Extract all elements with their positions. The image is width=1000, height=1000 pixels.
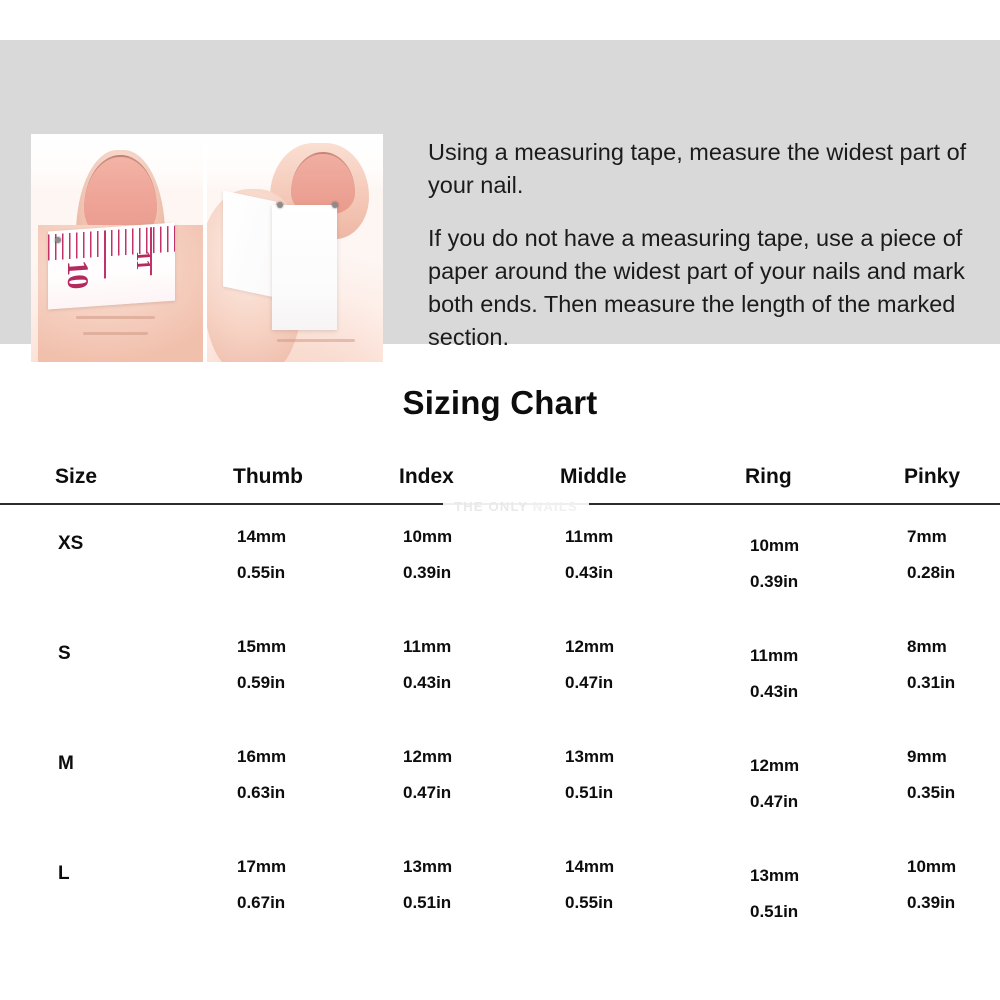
cell-index: 12mm0.47in — [355, 725, 525, 835]
instruction-text: Using a measuring tape, measure the wide… — [428, 136, 980, 354]
table-header: Size Thumb Index Middle Ring Pinky — [0, 465, 1000, 504]
measuring-photo: 10 11 — [31, 134, 383, 362]
column-header-thumb: Thumb — [180, 465, 355, 504]
cell-index: 10mm0.39in — [355, 504, 525, 615]
tape-pin — [55, 237, 61, 243]
cell-ring: 10mm0.39in — [695, 504, 860, 615]
instruction-paragraph-1: Using a measuring tape, measure the wide… — [428, 136, 980, 202]
cell-thumb: 14mm0.55in — [180, 504, 355, 615]
cell-middle: 14mm0.55in — [525, 835, 695, 945]
column-header-ring: Ring — [695, 465, 860, 504]
column-header-size: Size — [0, 465, 180, 504]
column-header-pinky: Pinky — [860, 465, 1000, 504]
sizing-chart-table: Size Thumb Index Middle Ring Pinky XS 14… — [0, 465, 1000, 945]
table-header-row: Size Thumb Index Middle Ring Pinky — [0, 465, 1000, 504]
table-row: M 16mm0.63in 12mm0.47in 13mm0.51in 12mm0… — [0, 725, 1000, 835]
cell-middle: 13mm0.51in — [525, 725, 695, 835]
cell-pinky: 8mm0.31in — [860, 615, 1000, 725]
instruction-paragraph-2: If you do not have a measuring tape, use… — [428, 222, 980, 354]
instruction-banner: 10 11 Using a measuring tape, measure th… — [0, 40, 1000, 344]
cell-ring: 12mm0.47in — [695, 725, 860, 835]
cell-index: 13mm0.51in — [355, 835, 525, 945]
cell-pinky: 10mm0.39in — [860, 835, 1000, 945]
cell-thumb: 16mm0.63in — [180, 725, 355, 835]
cell-pinky: 7mm0.28in — [860, 504, 1000, 615]
column-header-middle: Middle — [525, 465, 695, 504]
cell-thumb: 17mm0.67in — [180, 835, 355, 945]
sizing-chart-table-wrapper: Size Thumb Index Middle Ring Pinky XS 14… — [0, 465, 1000, 945]
paper-strip — [272, 205, 337, 330]
table-row: L 17mm0.67in 13mm0.51in 14mm0.55in 13mm0… — [0, 835, 1000, 945]
cell-ring: 13mm0.51in — [695, 835, 860, 945]
page-title: Sizing Chart — [0, 384, 1000, 422]
table-body: XS 14mm0.55in 10mm0.39in 11mm0.43in 10mm… — [0, 504, 1000, 945]
cell-thumb: 15mm0.59in — [180, 615, 355, 725]
tape-number-11: 11 — [131, 251, 154, 272]
photo-panel-paper-strip — [207, 134, 383, 362]
cell-middle: 11mm0.43in — [525, 504, 695, 615]
column-header-index: Index — [355, 465, 525, 504]
cell-size: L — [0, 835, 180, 945]
cell-pinky: 9mm0.35in — [860, 725, 1000, 835]
cell-size: XS — [0, 504, 180, 615]
skin-crease — [76, 316, 155, 319]
cell-size: M — [0, 725, 180, 835]
tape-ticks — [48, 226, 175, 261]
tape-major-tick — [104, 231, 106, 279]
cell-size: S — [0, 615, 180, 725]
paper-strip-tail — [223, 190, 276, 297]
table-row: XS 14mm0.55in 10mm0.39in 11mm0.43in 10mm… — [0, 504, 1000, 615]
skin-crease — [83, 332, 148, 335]
cell-ring: 11mm0.43in — [695, 615, 860, 725]
skin-crease — [277, 339, 354, 342]
cell-index: 11mm0.43in — [355, 615, 525, 725]
cell-middle: 12mm0.47in — [525, 615, 695, 725]
measuring-tape: 10 11 — [48, 223, 175, 309]
tape-number-10: 10 — [60, 260, 94, 290]
table-row: S 15mm0.59in 11mm0.43in 12mm0.47in 11mm0… — [0, 615, 1000, 725]
photo-panel-measuring-tape: 10 11 — [31, 134, 203, 362]
